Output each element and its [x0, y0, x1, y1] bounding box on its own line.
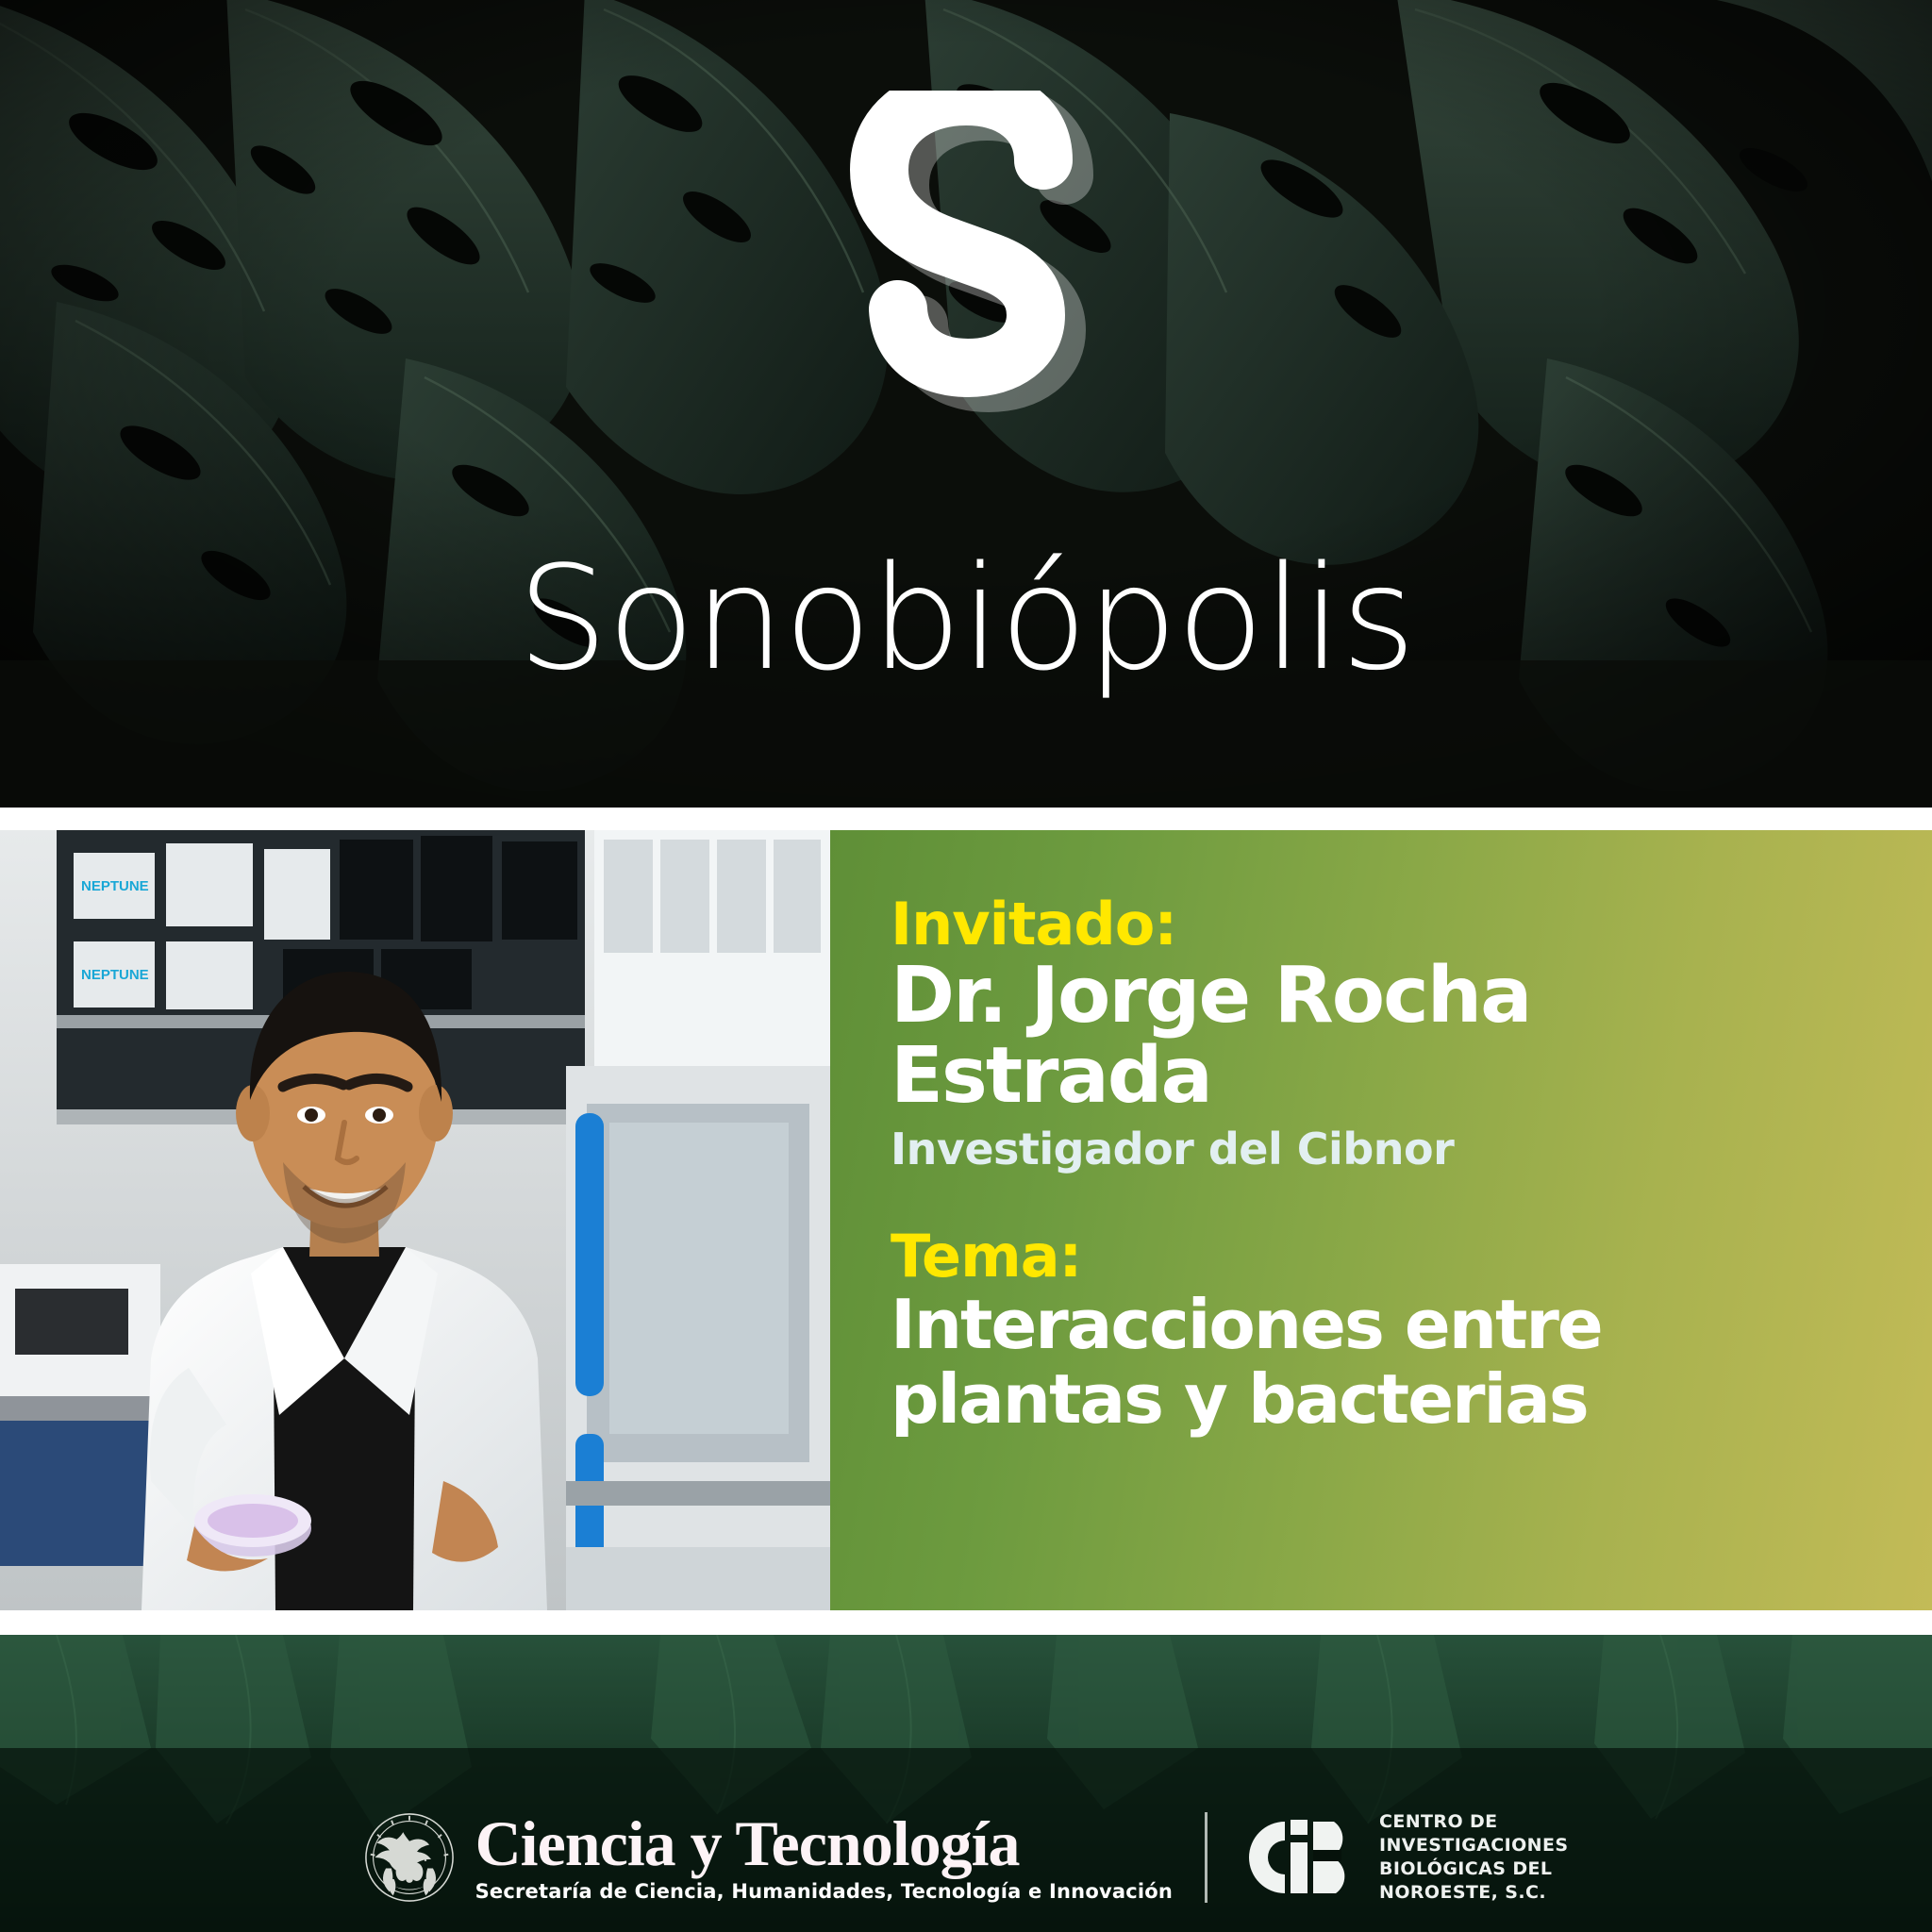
mexican-coat-of-arms-icon: [364, 1812, 455, 1903]
footer-divider: [1205, 1812, 1207, 1903]
cib-line-1: CENTRO DE: [1379, 1810, 1568, 1834]
hero-section: Sonobiópolis: [0, 0, 1932, 808]
svg-text:NEPTUNE: NEPTUNE: [81, 878, 149, 894]
topic-line-2: plantas y bacterias: [891, 1364, 1875, 1435]
svg-text:NEPTUNE: NEPTUNE: [81, 967, 149, 983]
separator-bottom: [0, 1610, 1932, 1635]
cib-brand: CENTRO DE INVESTIGACIONES BIOLÓGICAS DEL…: [1240, 1810, 1568, 1905]
info-panel: Invitado: Dr. Jorge Rocha Estrada Invest…: [830, 830, 1932, 1610]
cib-line-2: INVESTIGACIONES: [1379, 1834, 1568, 1857]
gov-subtitle: Secretaría de Ciencia, Humanidades, Tecn…: [475, 1880, 1173, 1903]
cib-logo-icon: [1240, 1814, 1360, 1901]
guest-kicker-label: Invitado:: [891, 894, 1875, 954]
poster: Sonobiópolis: [0, 0, 1932, 1932]
cib-line-4: NOROESTE, S.C.: [1379, 1881, 1568, 1905]
separator-top: [0, 808, 1932, 830]
guest-role-label: Investigador del Cibnor: [891, 1126, 1875, 1172]
sonobiopolis-s-monogram-icon: [824, 91, 1108, 430]
guest-name-line-2: Estrada: [891, 1038, 1875, 1114]
guest-name-line-1: Dr. Jorge Rocha: [891, 958, 1875, 1034]
footer-section: Ciencia y Tecnología Secretaría de Cienc…: [0, 1635, 1932, 1932]
cib-name-block: CENTRO DE INVESTIGACIONES BIOLÓGICAS DEL…: [1379, 1810, 1568, 1905]
gov-brand: Ciencia y Tecnología Secretaría de Cienc…: [364, 1812, 1173, 1903]
cib-line-3: BIOLÓGICAS DEL: [1379, 1857, 1568, 1881]
guest-photo: NEPTUNE NEPTUNE: [0, 830, 830, 1610]
content-band: NEPTUNE NEPTUNE: [0, 830, 1932, 1610]
gov-title: Ciencia y Tecnología: [475, 1812, 1173, 1875]
topic-line-1: Interacciones entre: [891, 1290, 1875, 1360]
topic-kicker-label: Tema:: [891, 1226, 1875, 1286]
wordmark-sonobiopolis: Sonobiópolis: [0, 547, 1932, 691]
footer-logos: Ciencia y Tecnología Secretaría de Cienc…: [0, 1810, 1932, 1905]
